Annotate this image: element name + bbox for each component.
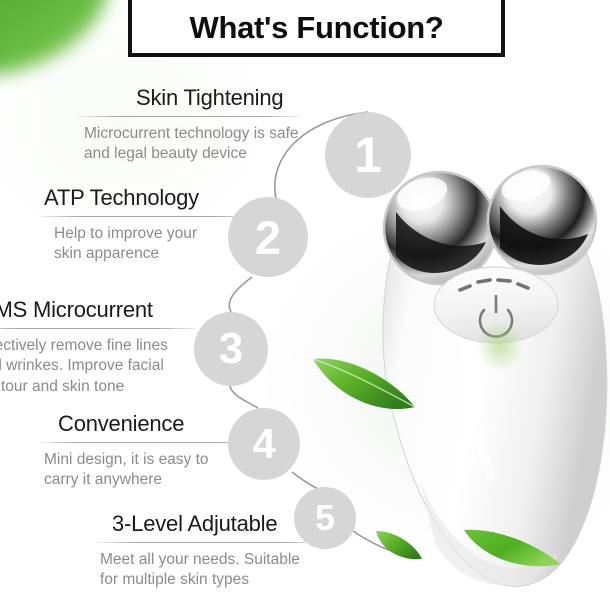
feature-item-3: EMS Microcurrent Effectively remove fine… (0, 298, 196, 397)
feature-body-3: Effectively remove fine lines and wrinke… (0, 336, 196, 397)
feature-heading-4: Convenience (40, 412, 256, 436)
feature-body-1: Microcurrent technology is safe and lega… (78, 124, 302, 165)
feature-heading-2: ATP Technology (40, 186, 254, 210)
feature-divider-4 (40, 442, 256, 443)
feature-heading-3: EMS Microcurrent (0, 298, 196, 322)
feature-heading-5: 3-Level Adjutable (96, 512, 322, 536)
feature-item-1: Skin Tightening Microcurrent technology … (78, 86, 302, 165)
step-badge-3: 3 (194, 312, 268, 386)
feature-divider-2 (40, 216, 254, 217)
feature-item-4: Convenience Mini design, it is easy to c… (40, 412, 256, 491)
feature-body-2: Help to improve your skin apparence (40, 224, 254, 265)
feature-divider-1 (78, 116, 302, 117)
feature-body-5: Meet all your needs. Suitable for multip… (96, 550, 322, 591)
feature-divider-5 (96, 542, 322, 543)
infographic-canvas: What's Function? Skin Tightening Microcu… (0, 0, 610, 610)
step-badge-5: 5 (294, 487, 356, 549)
step-badge-4: 4 (228, 408, 300, 480)
feature-item-2: ATP Technology Help to improve your skin… (40, 186, 254, 265)
page-title: What's Function? (190, 10, 444, 53)
feature-body-4: Mini design, it is easy to carry it anyw… (40, 450, 256, 491)
step-badge-1: 1 (325, 112, 411, 198)
feature-item-5: 3-Level Adjutable Meet all your needs. S… (96, 512, 322, 591)
title-box: What's Function? (128, 0, 505, 57)
feature-heading-1: Skin Tightening (78, 86, 302, 110)
product-device (360, 150, 610, 600)
feature-divider-3 (0, 328, 196, 329)
step-badge-2: 2 (228, 197, 308, 277)
